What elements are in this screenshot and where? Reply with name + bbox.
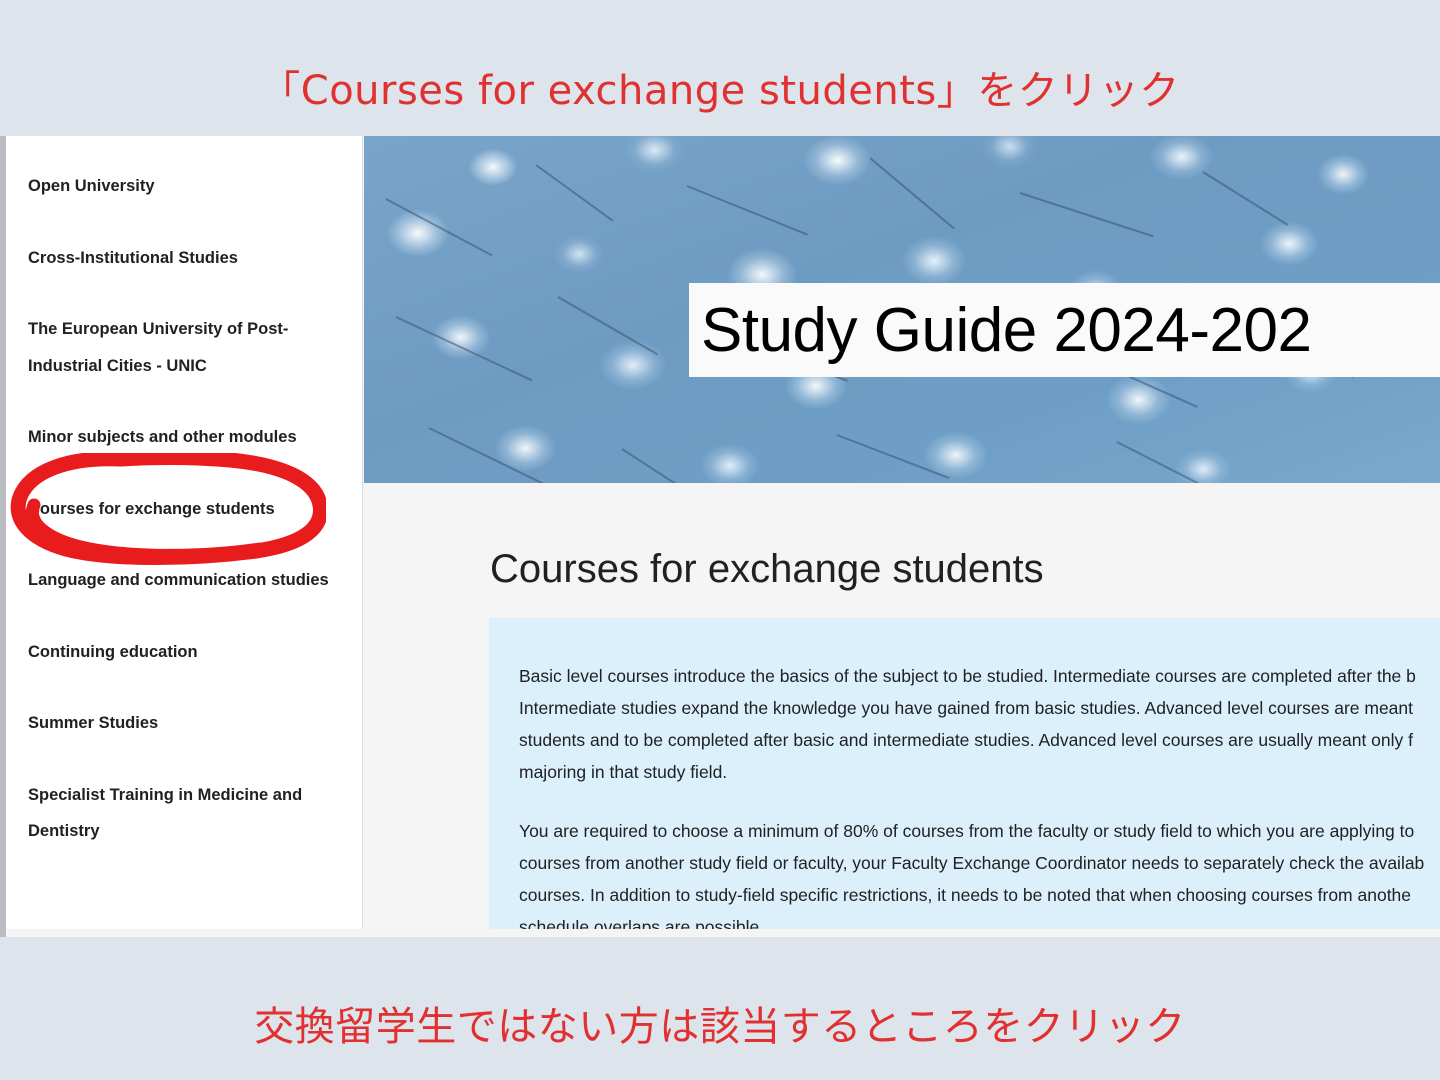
sidebar-item-language-and-communication-studies[interactable]: Language and communication studies: [6, 562, 362, 599]
info-line-5: You are required to choose a minimum of …: [519, 821, 1414, 841]
info-line-6: courses from another study field or facu…: [519, 853, 1424, 873]
sidebar-item-list: Open University Cross-Institutional Stud…: [6, 136, 362, 850]
info-line-7: courses. In addition to study-field spec…: [519, 885, 1411, 905]
page-body: Courses for exchange students Basic leve…: [364, 483, 1440, 929]
hero-title-box: Study Guide 2024-202: [689, 283, 1440, 377]
main-content-pane: Study Guide 2024-202 Courses for exchang…: [364, 136, 1440, 929]
sidebar-navigation: Open University Cross-Institutional Stud…: [6, 136, 363, 929]
sidebar-item-continuing-education[interactable]: Continuing education: [6, 634, 362, 671]
hero-title: Study Guide 2024-202: [689, 295, 1311, 366]
info-box: Basic level courses introduce the basics…: [489, 618, 1440, 929]
sidebar-item-open-university[interactable]: Open University: [6, 168, 362, 205]
sidebar-item-minor-subjects[interactable]: Minor subjects and other modules: [6, 419, 362, 456]
annotation-top-instruction: 「Courses for exchange students」をクリック: [0, 58, 1440, 116]
info-paragraph-1: Basic level courses introduce the basics…: [519, 660, 1440, 788]
info-line-8: schedule overlaps are possible.: [519, 917, 764, 929]
info-paragraph-2: You are required to choose a minimum of …: [519, 815, 1440, 929]
sidebar-item-cross-institutional-studies[interactable]: Cross-Institutional Studies: [6, 240, 362, 277]
browser-screenshot: Open University Cross-Institutional Stud…: [0, 136, 1440, 937]
page-title: Courses for exchange students: [490, 547, 1044, 592]
info-line-3: students and to be completed after basic…: [519, 730, 1413, 750]
hero-banner: Study Guide 2024-202: [364, 136, 1440, 483]
annotation-bottom-instruction: 交換留学生ではない方は該当するところをクリック: [0, 994, 1440, 1052]
sidebar-item-specialist-training[interactable]: Specialist Training in Medicine and Dent…: [6, 777, 362, 850]
sidebar-item-unic[interactable]: The European University of Post-Industri…: [6, 311, 362, 384]
info-line-4: majoring in that study field.: [519, 762, 727, 782]
info-line-1: Basic level courses introduce the basics…: [519, 666, 1416, 686]
info-line-2: Intermediate studies expand the knowledg…: [519, 698, 1413, 718]
sidebar-item-courses-for-exchange-students[interactable]: Courses for exchange students: [6, 491, 362, 528]
sidebar-item-summer-studies[interactable]: Summer Studies: [6, 705, 362, 742]
